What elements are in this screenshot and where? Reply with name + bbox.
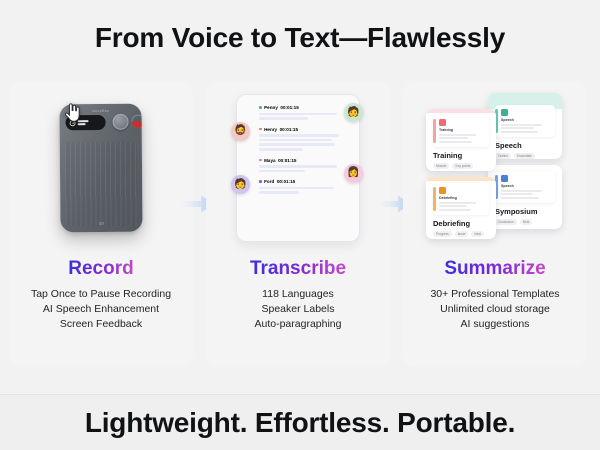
speaker-name: Maya — [264, 158, 276, 163]
template-card-symposium[interactable]: Speech Symposium Conclusion Next — [488, 165, 562, 229]
feature-line: 118 Languages — [255, 287, 342, 302]
panel-transcribe: Penny 00:01:15 🧑 Henry 00:01:15 — [206, 82, 390, 367]
card-line — [439, 202, 476, 204]
speaker-name: Ford — [264, 179, 274, 184]
template-card-speech[interactable]: Speech Speech Outline Essentials — [488, 93, 562, 159]
transcript-text-lines — [259, 113, 350, 120]
speaker-label: Henry 00:01:15 — [259, 127, 350, 132]
card-accent-bar — [433, 119, 436, 143]
record-visual: VoiceRec sn — [9, 82, 193, 254]
card-accent-bar — [433, 187, 436, 211]
transcript-line — [259, 191, 299, 194]
card-title: Speech — [495, 141, 555, 150]
card-line — [439, 205, 467, 207]
template-card-training[interactable]: Training Training Module Key points — [426, 109, 496, 171]
card-tag: Next — [471, 231, 484, 238]
speaker-timestamp: 00:01:15 — [280, 105, 298, 110]
card-title: Debriefing — [433, 219, 489, 228]
card-header-band — [426, 177, 496, 181]
card-subtitle: Training — [439, 128, 485, 132]
speaker-dot-icon — [259, 128, 262, 131]
panel-title-summarize: Summarize — [444, 258, 545, 280]
speaker-label: Penny 00:01:15 — [259, 105, 350, 110]
summarize-visual: Speech Speech Outline Essentials — [403, 82, 587, 254]
card-preview-lines — [439, 202, 485, 211]
card-preview-lines — [439, 134, 485, 143]
transcript-text-lines — [259, 187, 350, 194]
card-line — [501, 131, 538, 133]
speaker-name: Henry — [264, 127, 277, 132]
feature-line: Speaker Labels — [255, 302, 342, 317]
avatar: 🧑 — [231, 175, 250, 194]
footer-tagline: Lightweight. Effortless. Portable. — [85, 407, 515, 439]
transcript-line — [259, 148, 303, 151]
transcript-row: Ford 00:01:15 🧑 — [259, 179, 350, 194]
transcribe-visual: Penny 00:01:15 🧑 Henry 00:01:15 — [206, 82, 390, 254]
card-preview: Speech — [495, 105, 555, 137]
feature-line: Unlimited cloud storage — [430, 302, 559, 317]
card-subtitle: Debriefing — [439, 196, 485, 200]
transcript-row: Maya 00:01:15 👩 — [259, 158, 350, 173]
template-grid: Speech Speech Outline Essentials — [426, 93, 564, 243]
feature-line: Auto-paragraphing — [255, 317, 342, 332]
card-icon — [439, 119, 446, 126]
card-tags: Conclusion Next — [495, 219, 555, 226]
panel-record: VoiceRec sn Record Tap Once to Pause R — [9, 82, 193, 367]
speaker-dot-icon — [259, 180, 262, 183]
page-title: From Voice to Text—Flawlessly — [0, 22, 600, 54]
card-header-band — [426, 109, 496, 113]
card-tags: Module Key points — [433, 163, 489, 170]
transcript-line — [259, 170, 305, 173]
card-tag: Next — [520, 219, 533, 226]
speaker-dot-icon — [259, 106, 262, 109]
card-tag: Key points — [452, 163, 473, 170]
card-line — [501, 124, 542, 126]
transcript-line — [259, 187, 334, 190]
screen-bar — [78, 123, 86, 125]
speaker-label: Ford 00:01:15 — [259, 179, 350, 184]
speaker-timestamp: 00:01:15 — [277, 179, 295, 184]
card-line — [439, 137, 468, 139]
transcript-row: Penny 00:01:15 🧑 — [259, 105, 350, 120]
recording-indicator-icon — [132, 115, 143, 128]
voice-recorder-device: VoiceRec sn — [59, 104, 142, 233]
feature-line: AI Speech Enhancement — [31, 302, 171, 317]
panel-features-transcribe: 118 Languages Speaker Labels Auto-paragr… — [255, 287, 342, 332]
card-tags: Progress Issue Next — [433, 231, 489, 238]
speaker-label: Maya 00:01:15 — [259, 158, 350, 163]
panel-summarize: Speech Speech Outline Essentials — [403, 82, 587, 367]
feature-line: Screen Feedback — [31, 317, 171, 332]
card-tag: Outline — [495, 153, 511, 159]
card-tags: Outline Essentials — [495, 153, 555, 159]
device-logo: sn — [60, 221, 142, 228]
card-tag: Essentials — [514, 153, 535, 159]
transcript-line — [259, 117, 308, 120]
panel-title-transcribe: Transcribe — [250, 258, 346, 280]
card-tag: Module — [433, 163, 449, 170]
panel-features-summarize: 30+ Professional Templates Unlimited clo… — [430, 287, 559, 332]
speaker-name: Penny — [264, 105, 278, 110]
transcript-line — [259, 143, 335, 146]
footer-bar: Lightweight. Effortless. Portable. — [0, 395, 600, 450]
card-line — [501, 197, 539, 199]
feature-panels: VoiceRec sn Record Tap Once to Pause R — [0, 82, 600, 367]
card-line — [501, 190, 542, 192]
hand-cursor-icon — [64, 102, 80, 122]
avatar: 🧑 — [344, 103, 363, 122]
panel-features-record: Tap Once to Pause Recording AI Speech En… — [31, 287, 171, 332]
transcript-text-lines — [259, 165, 350, 172]
feature-line: AI suggestions — [430, 317, 559, 332]
card-tag: Progress — [433, 231, 452, 238]
transcript-card: Penny 00:01:15 🧑 Henry 00:01:15 — [236, 94, 360, 242]
speaker-dot-icon — [259, 159, 262, 162]
feature-line: Tap Once to Pause Recording — [31, 287, 171, 302]
card-preview: Debriefing — [433, 183, 489, 215]
card-icon — [439, 187, 446, 194]
template-card-debriefing[interactable]: Debriefing Debriefing Progress Issue Nex… — [426, 177, 496, 239]
card-preview-lines — [501, 124, 551, 133]
card-icon — [501, 109, 508, 116]
feature-line: 30+ Professional Templates — [430, 287, 559, 302]
device-texture — [65, 142, 138, 227]
card-line — [439, 141, 472, 143]
transcript-line — [259, 165, 337, 168]
card-icon — [501, 175, 508, 182]
card-subtitle: Speech — [501, 118, 551, 122]
card-preview: Training — [433, 115, 489, 147]
panel-title-record: Record — [68, 258, 133, 280]
card-tag: Conclusion — [495, 219, 517, 226]
card-line — [501, 127, 534, 129]
card-line — [439, 209, 471, 211]
transcript-text-lines — [259, 134, 350, 150]
card-line — [501, 193, 533, 195]
card-title: Training — [433, 151, 489, 160]
record-button[interactable] — [113, 114, 129, 130]
card-title: Symposium — [495, 207, 555, 216]
transcript-line — [259, 113, 337, 116]
card-preview-lines — [501, 190, 551, 199]
transcript-line — [259, 139, 332, 142]
card-line — [439, 134, 476, 136]
card-subtitle: Speech — [501, 184, 551, 188]
speaker-timestamp: 00:01:15 — [280, 127, 298, 132]
card-preview: Speech — [495, 171, 555, 203]
transcript-line — [259, 134, 339, 137]
speaker-timestamp: 00:01:15 — [278, 158, 296, 163]
transcript-row: Henry 00:01:15 🧔 — [259, 127, 350, 151]
avatar: 🧔 — [231, 122, 250, 141]
card-tag: Issue — [455, 231, 469, 238]
